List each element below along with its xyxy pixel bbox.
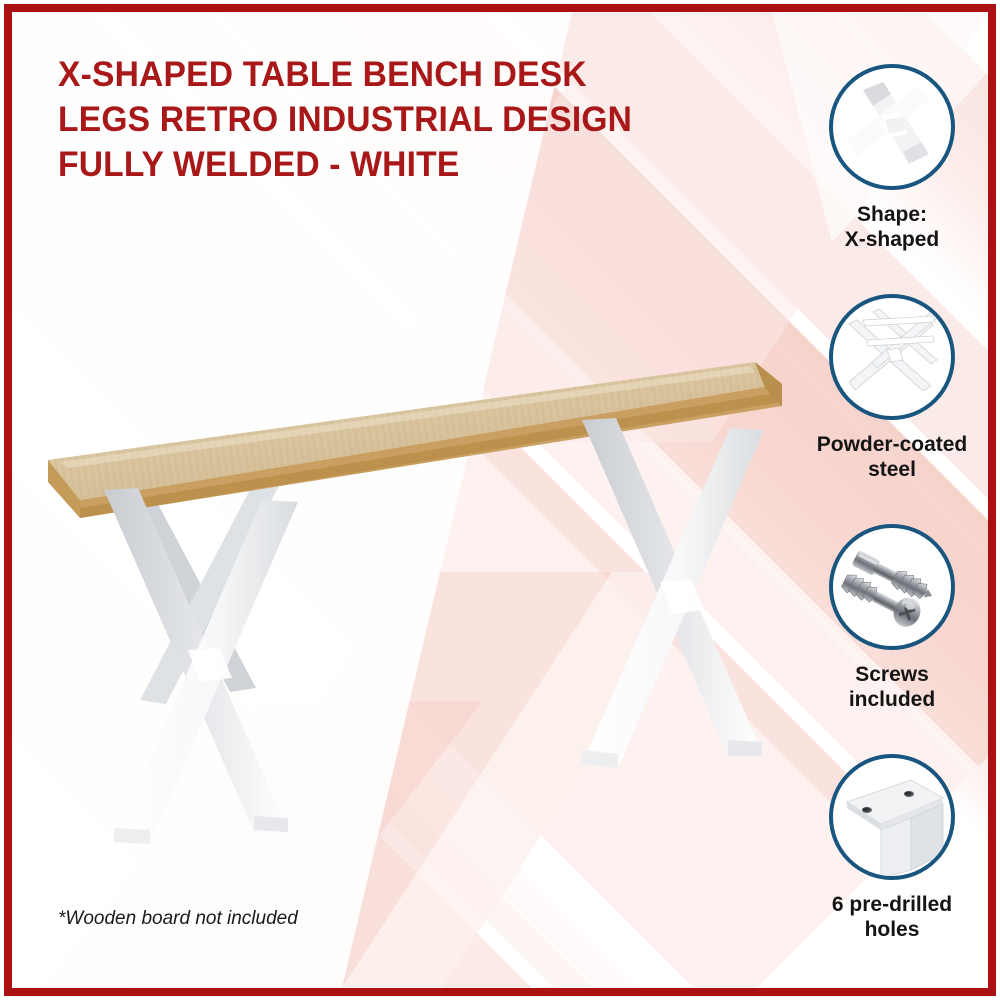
- feature-callout-list: Shape: X-shaped: [792, 64, 988, 974]
- feature-shape-label-line-1: Shape:: [792, 202, 988, 227]
- disclaimer-text: *Wooden board not included: [58, 908, 298, 930]
- feature-material-label-line-1: Powder-coated: [792, 432, 988, 457]
- content-stage: X-SHAPED TABLE BENCH DESK LEGS RETRO IND…: [12, 12, 988, 988]
- table-top: [48, 362, 782, 518]
- steel-legs-icon: [829, 294, 955, 420]
- feature-holes: 6 pre-drilled holes: [792, 754, 988, 942]
- feature-shape-label-line-2: X-shaped: [792, 227, 988, 252]
- table-illustration: [20, 332, 800, 892]
- title-line-1: X-SHAPED TABLE BENCH DESK: [58, 52, 692, 97]
- feature-material: Powder-coated steel: [792, 294, 988, 482]
- title-line-2: LEGS RETRO INDUSTRIAL DESIGN: [58, 97, 692, 142]
- feature-material-label: Powder-coated steel: [792, 432, 988, 482]
- drilled-plate-icon: [829, 754, 955, 880]
- feature-material-label-line-2: steel: [792, 457, 988, 482]
- feature-screws-label-line-1: Screws: [792, 662, 988, 687]
- feature-shape: Shape: X-shaped: [792, 64, 988, 252]
- title-line-3: FULLY WELDED - WHITE: [58, 142, 692, 187]
- feature-holes-label-line-2: holes: [792, 917, 988, 942]
- product-photo: [20, 332, 800, 892]
- table-leg-front-right: [582, 418, 764, 768]
- product-marketing-image: X-SHAPED TABLE BENCH DESK LEGS RETRO IND…: [0, 0, 1000, 1000]
- feature-screws-label: Screws included: [792, 662, 988, 712]
- feature-holes-label-line-1: 6 pre-drilled: [792, 892, 988, 917]
- feature-screws: Screws included: [792, 524, 988, 712]
- table-leg-front-left: [104, 488, 298, 844]
- page-title: X-SHAPED TABLE BENCH DESK LEGS RETRO IND…: [58, 52, 692, 187]
- x-shape-icon: [829, 64, 955, 190]
- screws-icon: [829, 524, 955, 650]
- feature-holes-label: 6 pre-drilled holes: [792, 892, 988, 942]
- feature-screws-label-line-2: included: [792, 687, 988, 712]
- feature-shape-label: Shape: X-shaped: [792, 202, 988, 252]
